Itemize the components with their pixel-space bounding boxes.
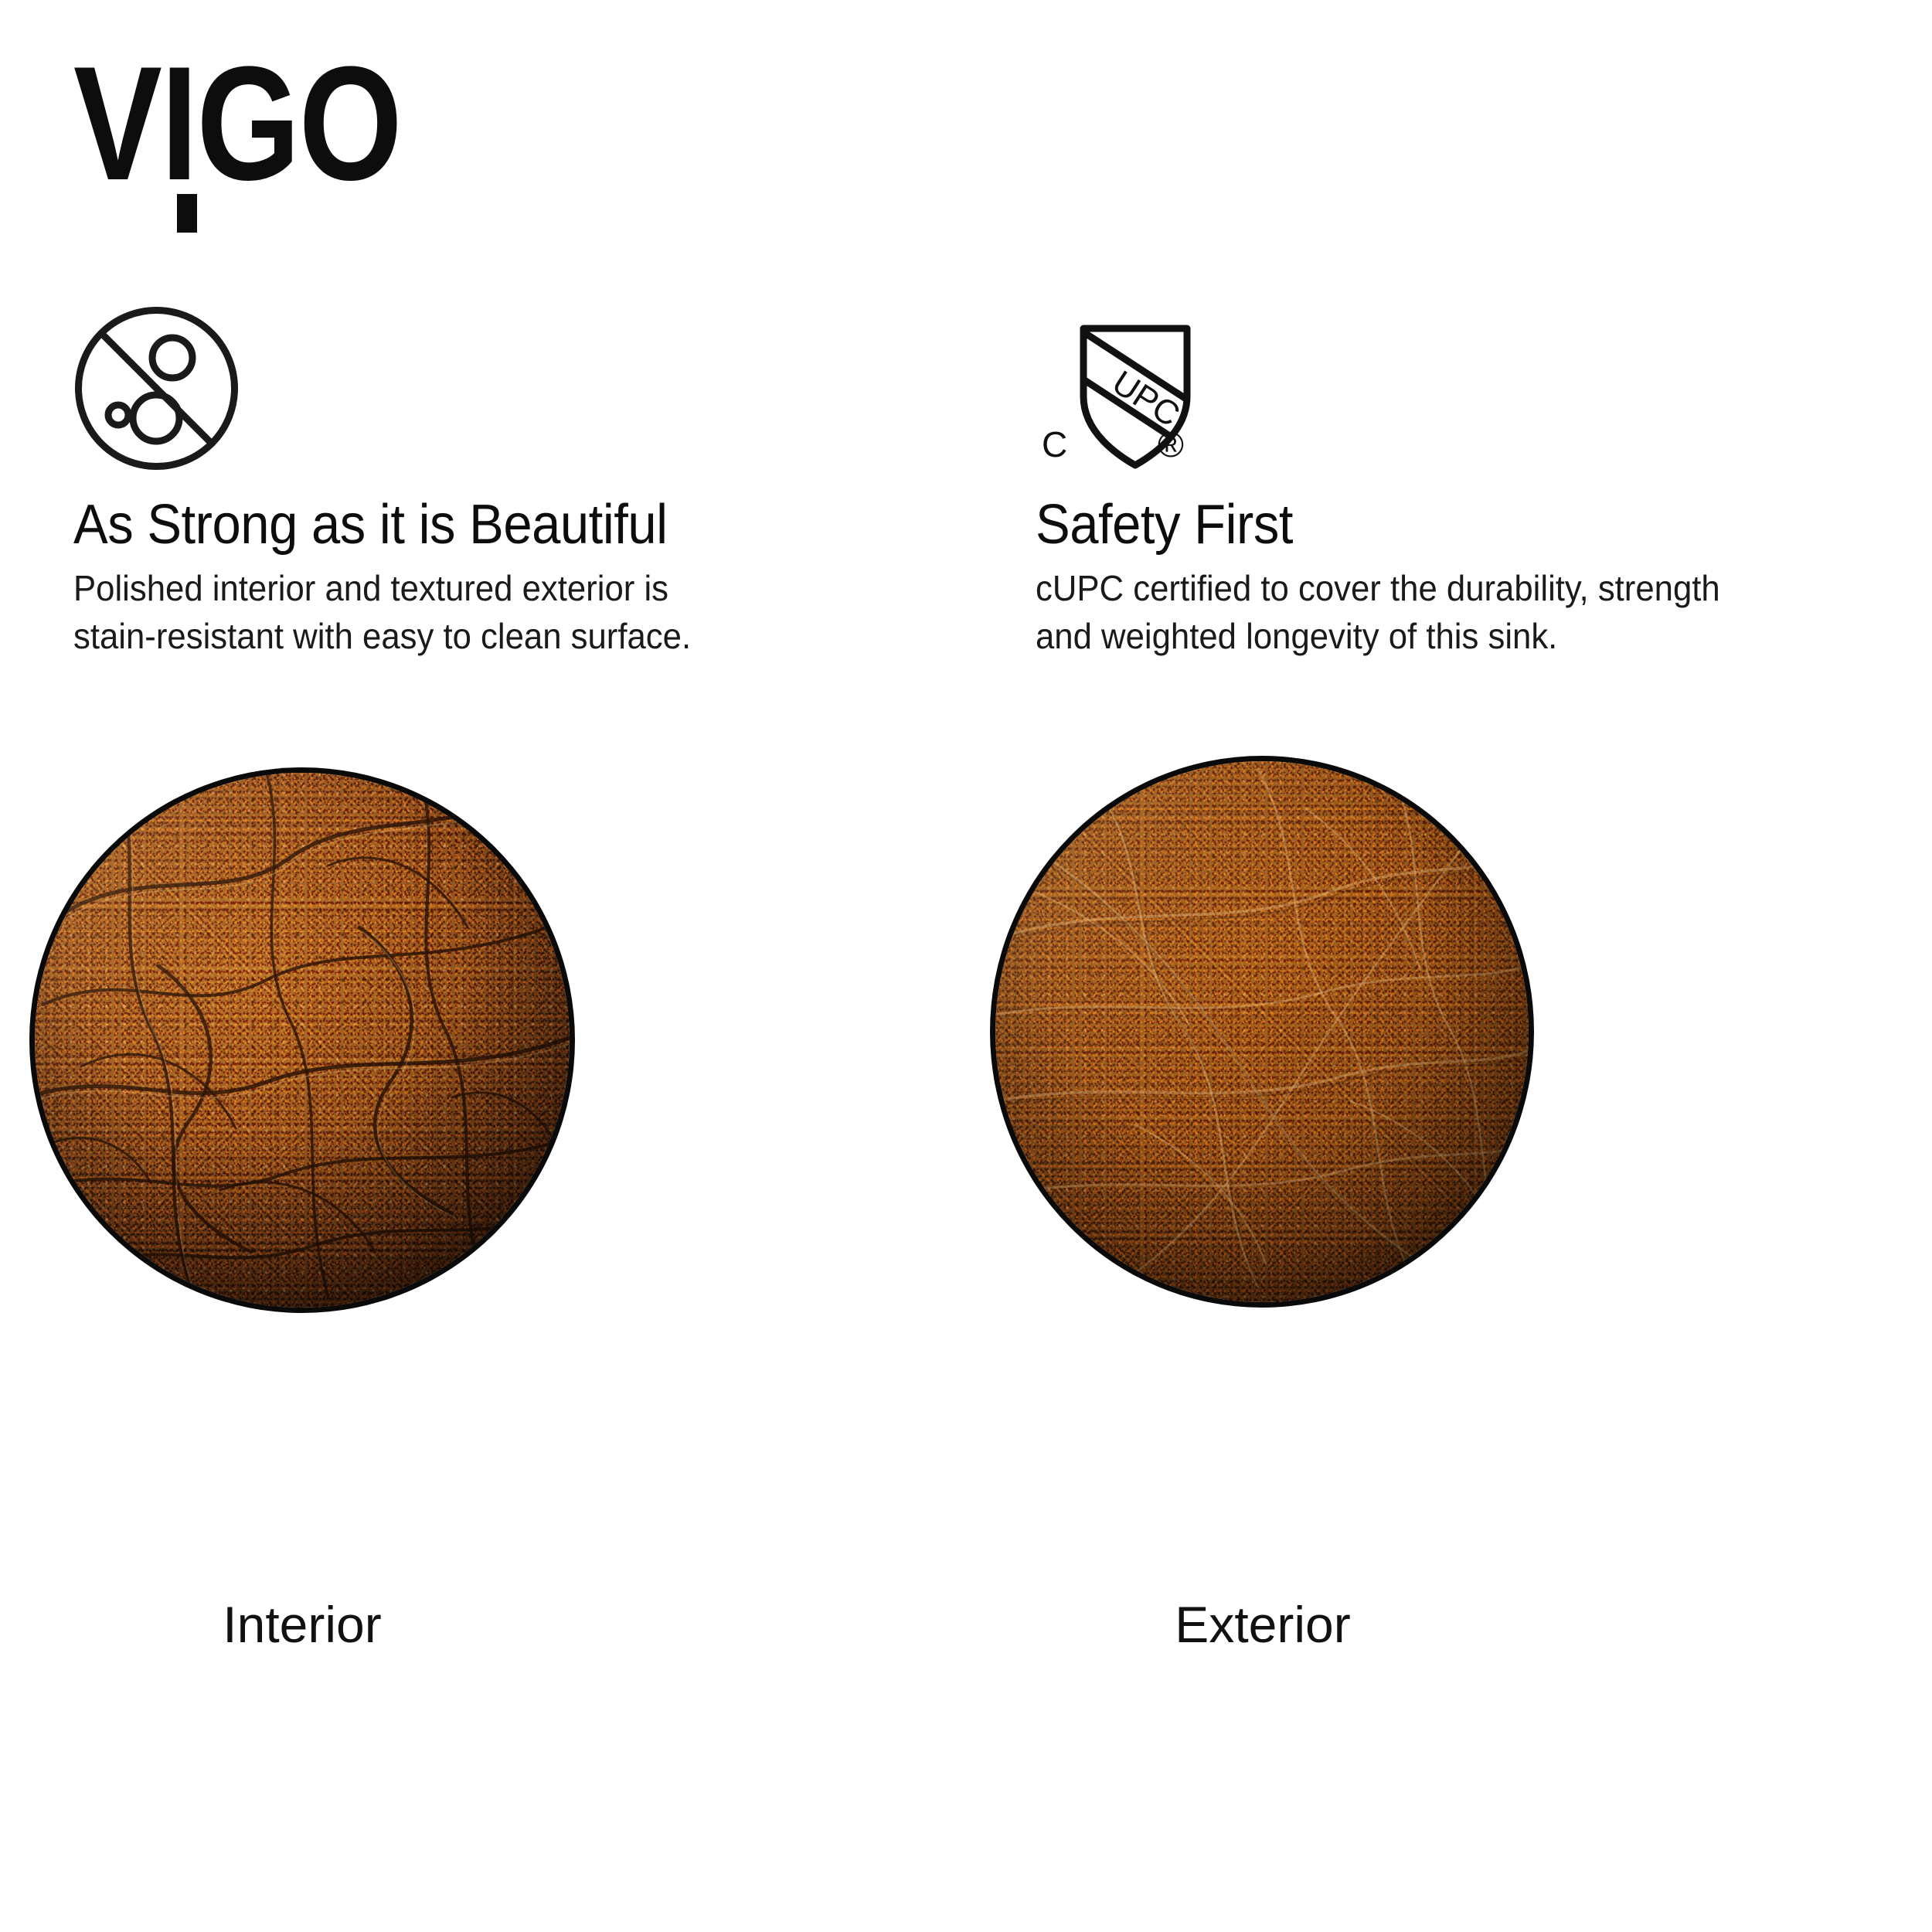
feature-body-durability: Polished interior and textured exterior … xyxy=(73,564,866,660)
swatch-caption-interior: Interior xyxy=(35,1596,570,1653)
feature-block-safety: UPC C ® Safety First cUPC certified to c… xyxy=(1036,305,1886,660)
vigo-logo-wordmark: VIGO xyxy=(73,43,339,205)
feature-title-safety: Safety First xyxy=(1036,493,1826,556)
product-feature-page: VIGO As Strong as it is Beautiful Polish… xyxy=(0,0,1932,1932)
texture-vignette xyxy=(995,761,1529,1302)
feature-title-durability: As Strong as it is Beautiful xyxy=(73,493,849,556)
no-stain-icon xyxy=(73,305,240,471)
cupc-shield-icon: UPC C ® xyxy=(1036,305,1202,471)
vigo-logo: VIGO xyxy=(73,43,398,243)
swatch-exterior: Exterior xyxy=(995,761,1536,1615)
feature-block-durability: As Strong as it is Beautiful Polished in… xyxy=(73,305,908,660)
vigo-logo-dot xyxy=(177,194,197,233)
swatch-interior: Interior xyxy=(35,773,576,1627)
svg-text:C: C xyxy=(1042,424,1067,464)
feature-body-safety: cUPC certified to cover the durability, … xyxy=(1036,564,1843,660)
texture-vignette xyxy=(35,773,570,1308)
svg-text:®: ® xyxy=(1158,424,1184,464)
swatch-exterior-disc xyxy=(995,761,1529,1302)
swatch-caption-exterior: Exterior xyxy=(995,1596,1530,1653)
swatch-interior-disc xyxy=(35,773,570,1308)
